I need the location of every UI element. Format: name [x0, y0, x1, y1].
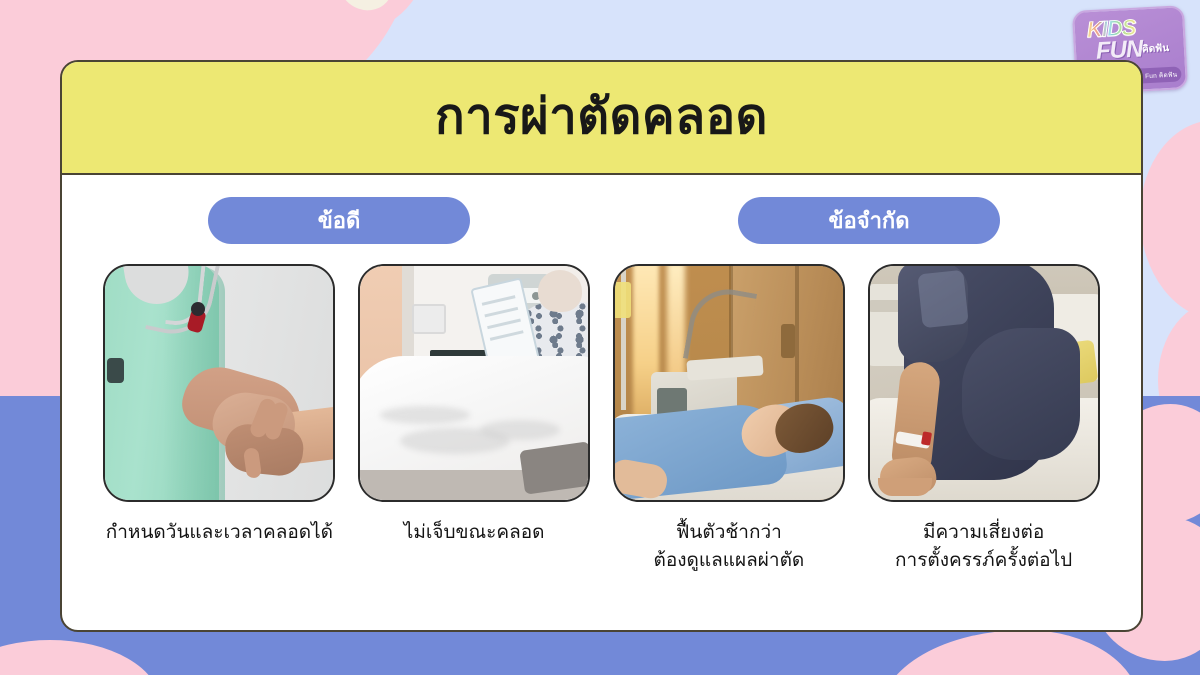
photo-frame-1 — [103, 264, 335, 502]
photo-frame-2 — [358, 264, 590, 502]
content-column-1: กำหนดวันและเวลาคลอดได้ — [92, 264, 347, 574]
title-banner: การผ่าตัดคลอด — [62, 62, 1141, 175]
decorative-blob-top-right-a — [1140, 120, 1200, 320]
section-pill-pros: ข้อดี — [208, 197, 470, 244]
caption-2: ไม่เจ็บขณะคลอด — [404, 519, 545, 547]
card-body: ข้อดี ข้อจำกัด — [62, 175, 1141, 630]
photo-frame-3 — [613, 264, 845, 502]
section-pill-cons-label: ข้อจำกัด — [828, 203, 909, 238]
content-column-2: ไม่เจ็บขณะคลอด — [347, 264, 602, 574]
photo-frame-4 — [868, 264, 1100, 502]
photo-pregnant-woman-sitting-on-bed-edge — [870, 266, 1098, 500]
slide-card: การผ่าตัดคลอด ข้อดี ข้อจำกัด — [60, 60, 1143, 632]
caption-4: มีความเสี่ยงต่อ การตั้งครรภ์ครั้งต่อไป — [895, 519, 1072, 574]
photo-woman-lying-in-hospital-bed — [615, 266, 843, 500]
caption-3: ฟื้นตัวช้ากว่า ต้องดูแลแผลผ่าตัด — [653, 519, 804, 574]
section-pill-pros-label: ข้อดี — [318, 203, 361, 238]
content-columns: กำหนดวันและเวลาคลอดได้ — [92, 264, 1111, 574]
section-pill-cons: ข้อจำกัด — [738, 197, 1000, 244]
page-title: การผ่าตัดคลอด — [435, 93, 768, 142]
caption-1: กำหนดวันและเวลาคลอดได้ — [106, 519, 333, 547]
photo-patient-resting-in-hospital-bed — [360, 266, 588, 500]
logo-word-thai: คิดฟัน — [1142, 41, 1170, 57]
section-pills: ข้อดี ข้อจำกัด — [92, 197, 1111, 244]
content-column-3: ฟื้นตัวช้ากว่า ต้องดูแลแผลผ่าตัด — [602, 264, 857, 574]
photo-nurse-holding-patient-hand — [105, 266, 333, 500]
content-column-4: มีความเสี่ยงต่อ การตั้งครรภ์ครั้งต่อไป — [856, 264, 1111, 574]
